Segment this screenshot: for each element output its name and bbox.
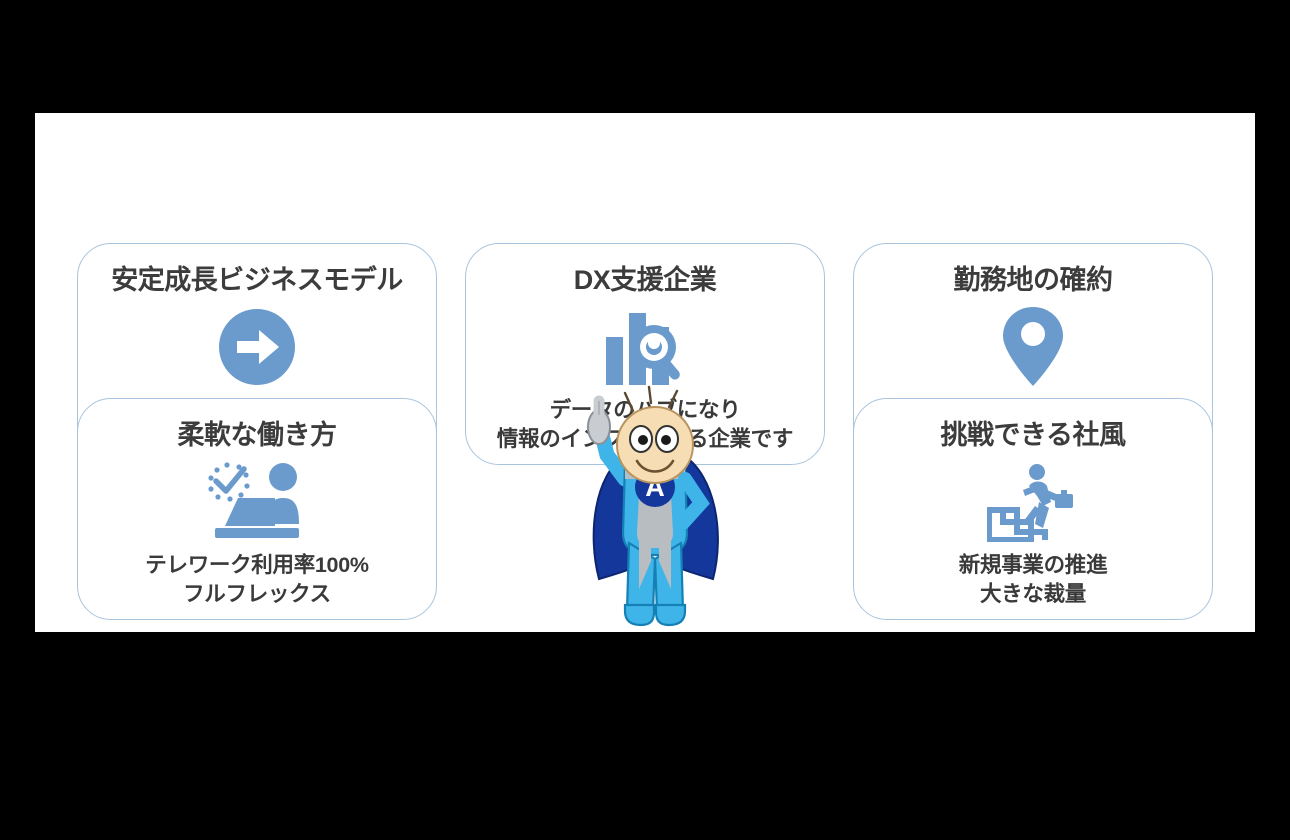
card-description-line-2: フルフレックス <box>78 580 436 609</box>
slide-root: 安定成長ビジネスモデル 健全な財務基盤と 圧倒的な実績・製品力 DX支援企業 <box>0 0 1290 840</box>
card-description: テレワーク利用率100% フルフレックス <box>78 551 436 609</box>
content-panel: 安定成長ビジネスモデル 健全な財務基盤と 圧倒的な実績・製品力 DX支援企業 <box>35 113 1255 632</box>
card-description-line-1: 新規事業の推進 <box>854 551 1212 580</box>
bar-chart-magnifier-icon <box>466 306 824 388</box>
telework-clock-laptop-icon <box>78 461 436 543</box>
card-title: DX支援企業 <box>466 258 824 297</box>
card-flexible-work[interactable]: 柔軟な働き方 テレワー <box>77 398 437 620</box>
card-challenge[interactable]: 挑戦できる社風 新規事業の推進 大きな裁量 <box>853 398 1213 620</box>
card-title: 勤務地の確約 <box>854 258 1212 297</box>
businessman-climbing-stairs-icon <box>854 461 1212 543</box>
arrow-right-circle-icon <box>78 306 436 388</box>
card-description-line-2: 大きな裁量 <box>854 580 1212 609</box>
superhero-mascot: A <box>555 383 755 631</box>
map-pin-icon <box>854 306 1212 388</box>
card-title: 挑戦できる社風 <box>854 413 1212 452</box>
card-description: 新規事業の推進 大きな裁量 <box>854 551 1212 609</box>
card-title: 柔軟な働き方 <box>78 413 436 452</box>
card-title: 安定成長ビジネスモデル <box>78 258 436 297</box>
card-description-line-1: テレワーク利用率100% <box>78 551 436 580</box>
